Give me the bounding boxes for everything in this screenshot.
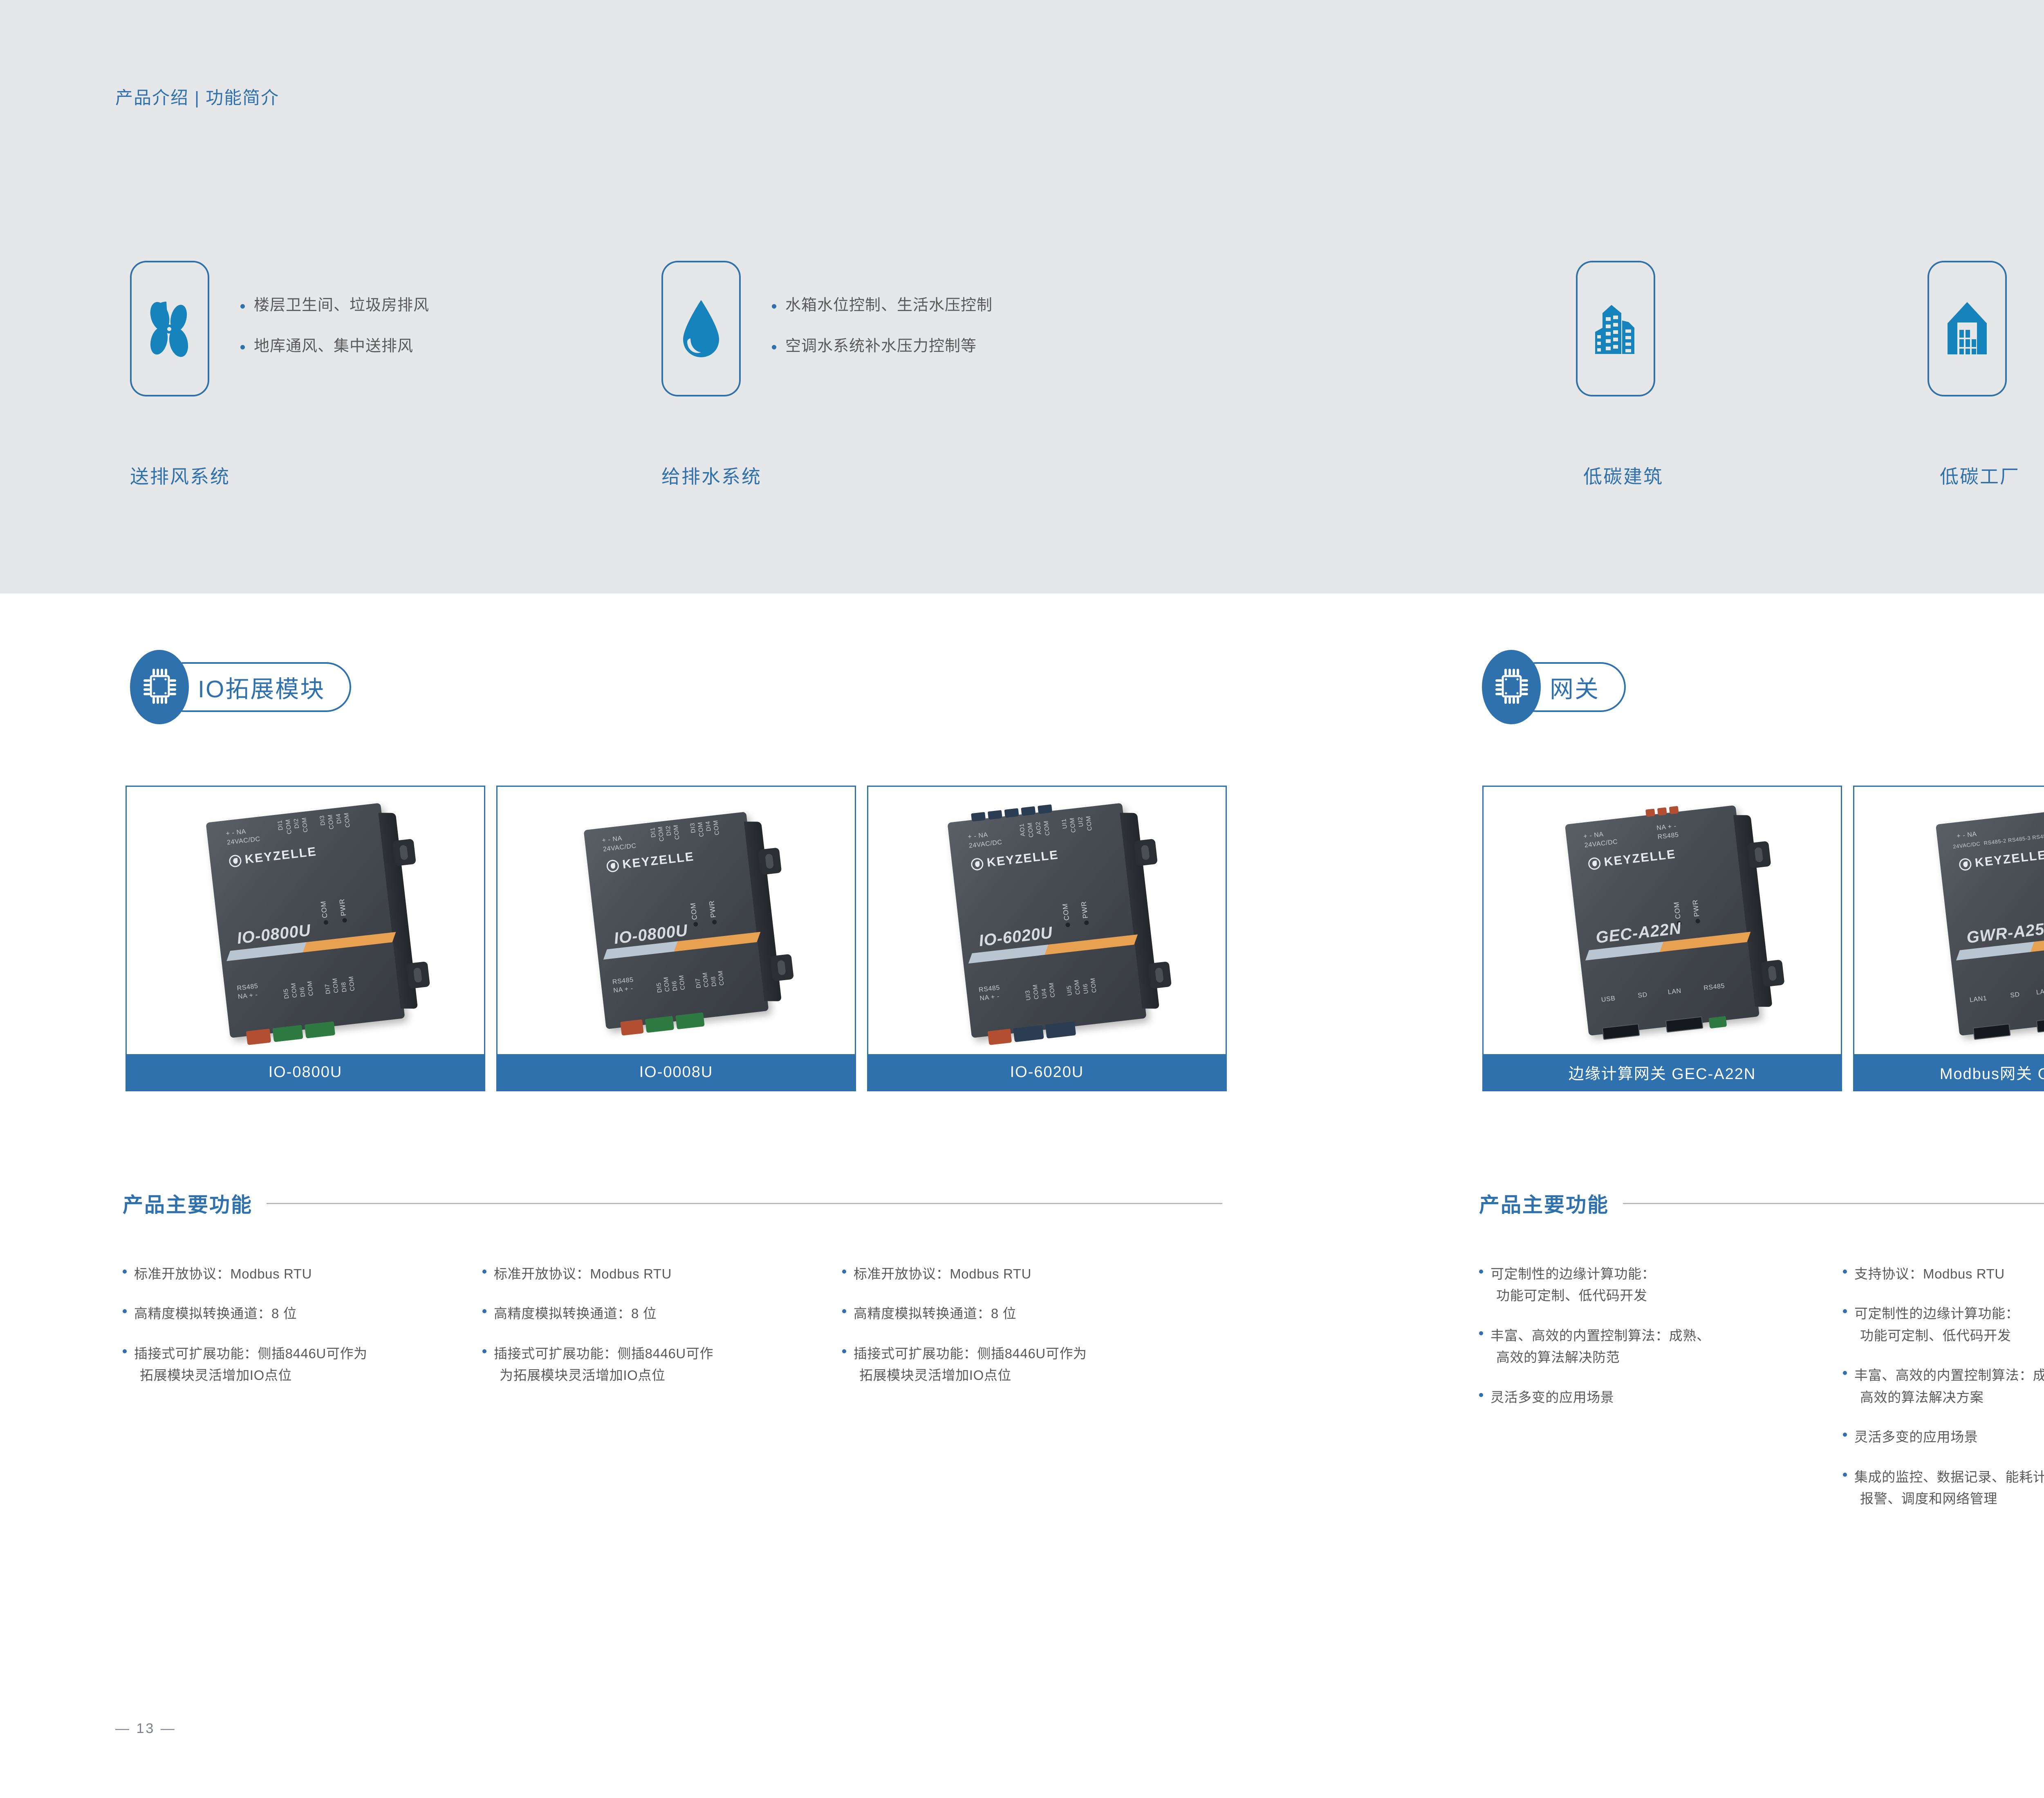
bullet-text: 地库通风、集中送排风 — [254, 338, 413, 354]
brand-logo: KEYZELLE — [1587, 847, 1676, 871]
terminal-label: DI4 — [704, 821, 713, 832]
terminal-label: DI8 — [710, 976, 718, 987]
led-pwr: PWR — [1080, 900, 1091, 925]
product-caption: Modbus网关 GWR-A25N — [1854, 1054, 2044, 1090]
feature-text-line2: 拓展模块灵活增加IO点位 — [854, 1364, 1087, 1386]
bullet-dot-icon — [482, 1309, 486, 1313]
brand-logo: KEYZELLE — [1959, 848, 2044, 872]
led-pwr: PWR — [338, 898, 349, 923]
bullet-dot-icon — [772, 304, 776, 309]
terminal-label: COM — [327, 814, 335, 830]
mounting-ear — [1747, 841, 1771, 868]
keyzelle-mark-icon — [1959, 858, 1972, 871]
divider-line — [267, 1203, 1222, 1204]
product-card[interactable]: + - NA 24VAC/DC NA + - RS485 KEYZELLE — [1482, 786, 1842, 1091]
terminal-label: DI1 — [276, 820, 285, 831]
feature-text: 丰富、高效的内置控制算法：成熟、 — [1854, 1368, 2044, 1383]
scenario-label-water: 给排水系统 — [661, 462, 762, 489]
target-block-factory — [1927, 261, 2007, 396]
feature-text-line2: 报警、调度和网络管理 — [1854, 1488, 2044, 1509]
bullet-dot-icon — [240, 304, 245, 309]
feature-text: 插接式可扩展功能：侧插8446U可作 — [494, 1346, 713, 1361]
water-drop-icon-frame — [661, 261, 741, 396]
led-pwr: PWR — [1691, 899, 1702, 924]
device-illustration: + - NA 24VAC/DC NA + - RS485 KEYZELLE — [1565, 805, 1759, 1036]
fan-icon-frame — [130, 261, 209, 396]
terminal-connectors — [246, 1021, 335, 1045]
terminal-connectors — [620, 1012, 705, 1036]
product-image: + - NA 24VAC/DC DI1 COM DI2 COM DI3 COM … — [127, 787, 484, 1054]
scenario-block-ventilation: 楼层卫生间、垃圾房排风 地库通风、集中送排风 — [130, 261, 429, 396]
section-title-text: 网关 — [1550, 670, 1600, 704]
led-pwr: PWR — [708, 900, 719, 925]
device-illustration: + - NA 24VAC/DC RS485-2 RS485-3 RS485-4 … — [1936, 805, 2044, 1036]
terminal-label: COM — [285, 819, 293, 834]
power-terminal-label: + - NA 24VAC/DC — [602, 833, 637, 854]
section-header-gateways: 网关 — [1482, 650, 1626, 724]
list-item: 丰富、高效的内置控制算法：成熟、高效的算法解决防范 — [1479, 1325, 1843, 1368]
list-item: 地库通风、集中送排风 — [240, 338, 429, 354]
terminal-label: COM — [1042, 820, 1051, 836]
bullet-dot-icon — [1479, 1393, 1483, 1397]
terminal-label: COM — [657, 826, 666, 842]
bullet-dot-icon — [1843, 1433, 1847, 1437]
mounting-ear — [406, 961, 430, 989]
feature-text-line2: 为拓展模块灵活增加IO点位 — [494, 1364, 713, 1386]
list-item: 高精度模拟转换通道：8 位 — [123, 1303, 482, 1324]
terminal-label: COM — [697, 822, 705, 837]
running-header-left: 产品介绍 | 功能简介 — [115, 84, 279, 109]
water-drop-icon — [677, 298, 726, 360]
divider-line — [1623, 1203, 2044, 1204]
features-title: 产品主要功能 — [1479, 1189, 1609, 1218]
terminal-label: COM — [347, 976, 356, 991]
bullet-dot-icon — [123, 1349, 127, 1353]
product-caption: IO-6020U — [868, 1054, 1226, 1090]
feature-column: 标准开放协议：Modbus RTU 高精度模拟转换通道：8 位 插接式可扩展功能… — [842, 1263, 1202, 1404]
terminal-label: COM — [678, 975, 686, 990]
feature-text: 支持协议：Modbus RTU — [1854, 1266, 2005, 1281]
terminal-label: COM — [702, 972, 710, 987]
list-item: 插接式可扩展功能：侧插8446U可作为拓展模块灵活增加IO点位 — [123, 1343, 482, 1386]
features-title: 产品主要功能 — [123, 1189, 253, 1218]
terminal-label: COM — [300, 817, 309, 833]
product-image: + - NA 24VAC/DC RS485-2 RS485-3 RS485-4 … — [1854, 787, 2044, 1054]
keyzelle-mark-icon — [970, 858, 984, 871]
list-item: 楼层卫生间、垃圾房排风 — [240, 298, 429, 313]
port-label-usb: USB — [1601, 994, 1616, 1005]
terminal-label: COM — [663, 976, 671, 992]
features-header-gateway: 产品主要功能 — [1479, 1189, 2044, 1218]
bullet-text: 楼层卫生间、垃圾房排风 — [254, 298, 429, 313]
terminal-label: DI2 — [293, 818, 301, 829]
led-com: COM — [689, 902, 700, 927]
product-card-row-io: + - NA 24VAC/DC DI1 COM DI2 COM DI3 COM … — [126, 786, 1227, 1091]
terminal-label: COM — [306, 981, 315, 996]
list-item: 丰富、高效的内置控制算法：成熟、高效的算法解决方案 — [1843, 1364, 2044, 1408]
list-item: 集成的监控、数据记录、能耗计量、报警、调度和网络管理 — [1843, 1466, 2044, 1510]
product-card[interactable]: + - NA 24VAC/DC RS485-2 RS485-3 RS485-4 … — [1853, 786, 2044, 1091]
feature-text: 灵活多变的应用场景 — [1854, 1429, 1978, 1444]
power-terminal-label: + - NA — [1956, 830, 1977, 841]
feature-column: 标准开放协议：Modbus RTU 高精度模拟转换通道：8 位 插接式可扩展功能… — [482, 1263, 842, 1404]
brand-logo: KEYZELLE — [606, 850, 695, 873]
terminal-label: COM — [1048, 982, 1056, 998]
terminal-label: DI6 — [671, 980, 679, 991]
bus-terminal-label: RS485 NA + - — [612, 976, 635, 996]
terminal-label: COM — [1073, 979, 1082, 995]
status-leds: COM PWR — [689, 900, 718, 927]
bullet-dot-icon — [772, 345, 776, 349]
feature-text: 标准开放协议：Modbus RTU — [854, 1266, 1031, 1281]
bullet-dot-icon — [1843, 1371, 1847, 1375]
list-item: 水箱水位控制、生活水压控制 — [772, 298, 993, 313]
terminal-label: DI6 — [298, 986, 307, 997]
terminal-label: COM — [343, 812, 352, 828]
bullet-dot-icon — [842, 1309, 846, 1313]
terminal-label: DI7 — [324, 983, 332, 994]
terminal-label: UI1 — [1060, 818, 1069, 829]
terminal-label: DI3 — [318, 815, 327, 826]
mounting-ear — [1134, 839, 1158, 866]
terminal-connectors — [1709, 1016, 1727, 1029]
chip-icon-badge — [1482, 650, 1541, 724]
terminal-label: COM — [1069, 817, 1077, 833]
feature-text: 高精度模拟转换通道：8 位 — [854, 1306, 1016, 1321]
terminal-label: DI4 — [335, 813, 343, 824]
list-item: 灵活多变的应用场景 — [1843, 1426, 2044, 1448]
list-item: 空调水系统补水压力控制等 — [772, 338, 993, 354]
terminal-label: DI7 — [694, 978, 702, 989]
office-building-icon-frame — [1576, 261, 1655, 396]
target-label-factory: 低碳工厂 — [1940, 462, 2020, 489]
product-card[interactable]: + - NA 24VAC/DC DI1 COM DI2 COM DI3 COM … — [496, 786, 856, 1091]
target-label-building: 低碳建筑 — [1583, 462, 1663, 489]
office-building-icon — [1588, 299, 1643, 358]
terminal-label: COM — [1089, 977, 1098, 993]
status-leds: COM PWR — [319, 898, 349, 925]
feature-text-line2: 高效的算法解决方案 — [1854, 1386, 2044, 1408]
keyzelle-mark-icon — [1588, 857, 1601, 870]
bullet-dot-icon — [240, 345, 245, 349]
terminal-label: DI5 — [282, 988, 291, 999]
terminal-label: COM — [1032, 984, 1040, 1000]
water-bullet-list: 水箱水位控制、生活水压控制 空调水系统补水压力控制等 — [772, 261, 993, 354]
list-item: 标准开放协议：Modbus RTU — [123, 1263, 482, 1285]
features-header-io: 产品主要功能 — [123, 1189, 1222, 1218]
list-item: 标准开放协议：Modbus RTU — [482, 1263, 842, 1285]
port-label-lan1: LAN1 — [1969, 994, 1988, 1005]
terminal-label: UI3 — [1024, 990, 1032, 1001]
section-header-io-modules: IO拓展模块 — [130, 650, 351, 724]
feature-column: 标准开放协议：Modbus RTU 高精度模拟转换通道：8 位 插接式可扩展功能… — [123, 1263, 482, 1404]
product-caption: 边缘计算网关 GEC-A22N — [1484, 1054, 1841, 1090]
feature-text: 灵活多变的应用场景 — [1490, 1390, 1614, 1405]
list-item: 插接式可扩展功能：侧插8446U可作为拓展模块灵活增加IO点位 — [482, 1343, 842, 1386]
feature-text: 丰富、高效的内置控制算法：成熟、 — [1490, 1328, 1710, 1343]
feature-column: 可定制性的边缘计算功能：功能可定制、低代码开发 丰富、高效的内置控制算法：成熟、… — [1479, 1263, 1843, 1528]
bus-terminal-label: RS485 NA + - — [978, 983, 1001, 1003]
feature-text-line2: 拓展模块灵活增加IO点位 — [134, 1364, 368, 1386]
factory-icon-frame — [1927, 261, 2007, 396]
bullet-text: 水箱水位控制、生活水压控制 — [785, 298, 993, 313]
terminal-label: DI1 — [649, 827, 657, 838]
product-card[interactable]: + - NA 24VAC/DC AO1 COM AO2 COM UI1 COM … — [867, 786, 1227, 1091]
chip-icon-badge — [130, 650, 189, 724]
feature-text-line2: 功能可定制、低代码开发 — [1490, 1285, 1655, 1306]
features-columns-gateway: 可定制性的边缘计算功能：功能可定制、低代码开发 丰富、高效的内置控制算法：成熟、… — [1479, 1263, 2044, 1528]
product-image: + - NA 24VAC/DC NA + - RS485 KEYZELLE — [1484, 787, 1841, 1054]
terminal-label: AO1 — [1018, 823, 1026, 837]
keyzelle-mark-icon — [229, 854, 242, 868]
power-terminal-label: + - NA 24VAC/DC — [967, 829, 1002, 850]
list-item: 支持协议：Modbus RTU — [1843, 1263, 2044, 1285]
device-illustration: + - NA 24VAC/DC DI1 COM DI2 COM DI3 COM … — [206, 803, 405, 1038]
brand-logo: KEYZELLE — [229, 845, 318, 869]
port-label-lan: LAN — [1667, 987, 1682, 997]
bus-terminal-label: NA + - RS485 — [1656, 822, 1679, 842]
list-item: 灵活多变的应用场景 — [1479, 1386, 1843, 1408]
top-expansion-connectors — [971, 804, 1052, 822]
mounting-ear — [770, 954, 794, 981]
terminal-label: COM — [712, 820, 721, 835]
bullet-dot-icon — [1843, 1473, 1847, 1477]
chip-icon — [1494, 667, 1529, 708]
scenario-block-water: 水箱水位控制、生活水压控制 空调水系统补水压力控制等 — [661, 261, 993, 396]
bullet-dot-icon — [1479, 1270, 1483, 1274]
mounting-ear — [1148, 961, 1172, 989]
port-label-sd: SD — [1637, 991, 1648, 1001]
terminal-label: UI4 — [1040, 988, 1049, 999]
terminal-label: DI2 — [665, 825, 673, 836]
terminal-label: COM — [717, 970, 726, 986]
fan-icon — [142, 298, 197, 359]
bus-terminal-label: RS485 NA + - — [237, 982, 260, 1002]
port-label-rs485: RS485 — [1703, 982, 1725, 993]
feature-text: 标准开放协议：Modbus RTU — [134, 1266, 312, 1281]
bullet-dot-icon — [123, 1309, 127, 1313]
product-caption: IO-0008U — [498, 1054, 855, 1090]
terminal-connectors — [988, 1021, 1076, 1045]
list-item: 标准开放协议：Modbus RTU — [842, 1263, 1202, 1285]
terminal-label: DI8 — [340, 981, 348, 992]
mounting-ear — [758, 847, 782, 875]
led-com: COM — [319, 900, 330, 925]
bullet-dot-icon — [1843, 1309, 1847, 1313]
ventilation-bullet-list: 楼层卫生间、垃圾房排风 地库通风、集中送排风 — [240, 261, 429, 354]
bullet-dot-icon — [842, 1349, 846, 1353]
terminal-label: COM — [290, 983, 298, 998]
mounting-ear — [392, 839, 416, 866]
terminal-label: AO2 — [1035, 821, 1043, 835]
feature-text: 集成的监控、数据记录、能耗计量、 — [1854, 1469, 2044, 1485]
feature-text-line2: 高效的算法解决防范 — [1490, 1346, 1710, 1368]
status-leds: COM PWR — [1061, 900, 1091, 927]
list-item: 高精度模拟转换通道：8 位 — [842, 1303, 1202, 1324]
feature-text: 可定制性的边缘计算功能： — [1854, 1306, 2019, 1321]
bullet-dot-icon — [842, 1270, 846, 1274]
list-item: 可定制性的边缘计算功能：功能可定制、低代码开发 — [1843, 1303, 2044, 1346]
scenario-label-ventilation: 送排风系统 — [130, 462, 230, 489]
terminal-label: UI5 — [1065, 985, 1074, 996]
list-item: 插接式可扩展功能：侧插8446U可作为拓展模块灵活增加IO点位 — [842, 1343, 1202, 1386]
list-item: 高精度模拟转换通道：8 位 — [482, 1303, 842, 1324]
led-com: COM — [1061, 903, 1072, 928]
product-card[interactable]: + - NA 24VAC/DC DI1 COM DI2 COM DI3 COM … — [126, 786, 485, 1091]
page-number-left: — 13 — — [115, 1721, 176, 1737]
feature-text-line2: 功能可定制、低代码开发 — [1854, 1325, 2019, 1346]
bullet-dot-icon — [482, 1270, 486, 1274]
power-terminal-label: + - NA 24VAC/DC — [226, 826, 261, 847]
bullet-text: 空调水系统补水压力控制等 — [785, 338, 977, 354]
device-illustration: + - NA 24VAC/DC AO1 COM AO2 COM UI1 COM … — [947, 803, 1146, 1038]
mounting-ear — [1761, 959, 1785, 987]
chip-icon — [142, 667, 177, 708]
device-illustration: + - NA 24VAC/DC DI1 COM DI2 COM DI3 COM … — [584, 812, 769, 1029]
feature-text: 标准开放协议：Modbus RTU — [494, 1266, 672, 1281]
product-image: + - NA 24VAC/DC AO1 COM AO2 COM UI1 COM … — [868, 787, 1226, 1054]
features-columns-io: 标准开放协议：Modbus RTU 高精度模拟转换通道：8 位 插接式可扩展功能… — [123, 1263, 1226, 1404]
feature-text: 插接式可扩展功能：侧插8446U可作为 — [134, 1346, 368, 1361]
brochure-page: 产品介绍 | 功能简介 产品介绍 | 功能简介 — [0, 0, 2044, 1798]
feature-text: 高精度模拟转换通道：8 位 — [134, 1306, 297, 1321]
terminal-label: COM — [672, 824, 681, 840]
feature-text: 高精度模拟转换通道：8 位 — [494, 1306, 657, 1321]
terminal-label: COM — [1085, 815, 1094, 831]
section-title-text: IO拓展模块 — [198, 670, 325, 704]
bullet-dot-icon — [482, 1349, 486, 1353]
target-block-building — [1576, 261, 1655, 396]
port-label-lan2: LAN2 — [2036, 987, 2044, 997]
terminal-label: DI3 — [689, 822, 697, 833]
feature-text: 插接式可扩展功能：侧插8446U可作为 — [854, 1346, 1087, 1361]
terminal-label: DI5 — [655, 982, 663, 993]
list-item: 可定制性的边缘计算功能：功能可定制、低代码开发 — [1479, 1263, 1843, 1307]
bullet-dot-icon — [123, 1270, 127, 1274]
top-connectors — [1645, 806, 1679, 817]
feature-text: 可定制性的边缘计算功能： — [1490, 1266, 1655, 1281]
terminal-label: COM — [1026, 822, 1035, 837]
product-caption: IO-0800U — [127, 1054, 484, 1090]
bullet-dot-icon — [1479, 1331, 1483, 1335]
factory-icon — [1941, 300, 1993, 358]
port-label-sd: SD — [2010, 990, 2020, 1000]
terminal-label: UI6 — [1082, 983, 1090, 994]
product-card-row-gateway: + - NA 24VAC/DC NA + - RS485 KEYZELLE — [1482, 786, 2044, 1091]
brand-logo: KEYZELLE — [970, 848, 1060, 872]
keyzelle-mark-icon — [606, 859, 619, 873]
product-image: + - NA 24VAC/DC DI1 COM DI2 COM DI3 COM … — [498, 787, 855, 1054]
power-terminal-label: + - NA 24VAC/DC — [1583, 828, 1618, 850]
bullet-dot-icon — [1843, 1270, 1847, 1274]
terminal-label: COM — [331, 978, 340, 993]
feature-column: 支持协议：Modbus RTU 可定制性的边缘计算功能：功能可定制、低代码开发 … — [1843, 1263, 2044, 1528]
terminal-label: UI2 — [1077, 816, 1085, 827]
